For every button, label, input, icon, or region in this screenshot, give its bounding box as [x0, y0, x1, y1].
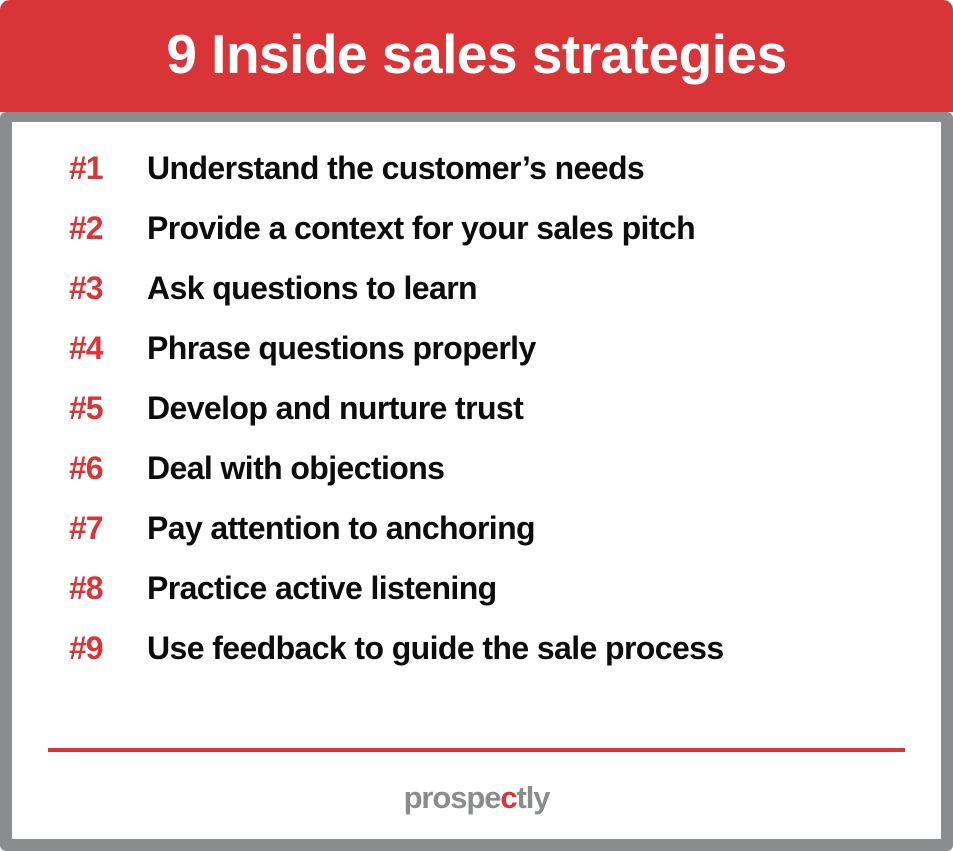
page-title: 9 Inside sales strategies: [166, 27, 786, 86]
list-item-number: #2: [69, 212, 147, 244]
list-item-label: Provide a context for your sales pitch: [147, 212, 695, 244]
list-item: #7 Pay attention to anchoring: [12, 512, 941, 572]
list-item: #4 Phrase questions properly: [12, 332, 941, 392]
list-item-label: Use feedback to guide the sale process: [147, 632, 724, 664]
logo-text-primary: prospe: [404, 782, 501, 813]
logo-accent-letter: c: [500, 782, 516, 813]
list-item-number: #5: [69, 392, 147, 424]
footer: prospe c tly: [12, 782, 941, 813]
list-item-number: #6: [69, 452, 147, 484]
list-item-label: Ask questions to learn: [147, 272, 477, 304]
header-banner: 9 Inside sales strategies: [0, 0, 953, 112]
list-item-number: #8: [69, 572, 147, 604]
content-card-frame: #1 Understand the customer’s needs #2 Pr…: [0, 112, 953, 851]
list-item-label: Deal with objections: [147, 452, 444, 484]
list-item: #8 Practice active listening: [12, 572, 941, 632]
list-item-label: Pay attention to anchoring: [147, 512, 535, 544]
list-item-number: #4: [69, 332, 147, 364]
list-item-number: #7: [69, 512, 147, 544]
strategy-list: #1 Understand the customer’s needs #2 Pr…: [12, 152, 941, 692]
infographic-card: 9 Inside sales strategies #1 Understand …: [0, 0, 953, 851]
list-item-number: #3: [69, 272, 147, 304]
list-item: #1 Understand the customer’s needs: [12, 152, 941, 212]
list-item: #3 Ask questions to learn: [12, 272, 941, 332]
list-item: #9 Use feedback to guide the sale proces…: [12, 632, 941, 692]
list-item-number: #1: [69, 152, 147, 184]
content-card-body: #1 Understand the customer’s needs #2 Pr…: [12, 122, 941, 839]
list-item-label: Understand the customer’s needs: [147, 152, 644, 184]
list-item-number: #9: [69, 632, 147, 664]
list-item-label: Develop and nurture trust: [147, 392, 523, 424]
list-item: #2 Provide a context for your sales pitc…: [12, 212, 941, 272]
list-item: #5 Develop and nurture trust: [12, 392, 941, 452]
list-item-label: Practice active listening: [147, 572, 497, 604]
footer-divider: [48, 748, 905, 752]
logo-text-secondary: tly: [517, 782, 550, 813]
list-item: #6 Deal with objections: [12, 452, 941, 512]
prospectly-logo: prospe c tly: [404, 782, 550, 813]
list-item-label: Phrase questions properly: [147, 332, 536, 364]
